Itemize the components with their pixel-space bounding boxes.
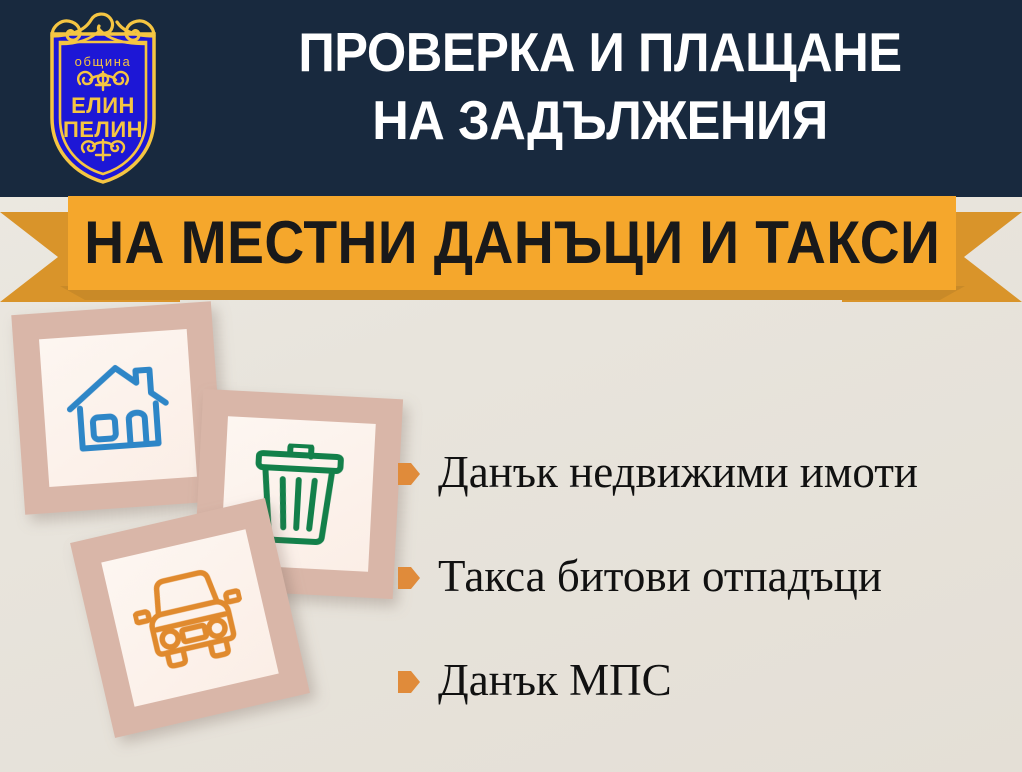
- list-item[interactable]: Данък МПС: [398, 628, 1018, 732]
- ribbon-subtitle-text: НА МЕСТНИ ДАНЪЦИ И ТАКСИ: [84, 212, 940, 274]
- list-item[interactable]: Такса битови отпадъци: [398, 524, 1018, 628]
- list-item[interactable]: Данък недвижими имоти: [398, 420, 1018, 524]
- crest-line-elin: ЕЛИН: [71, 93, 135, 118]
- stamp-card-property-tax: [11, 301, 224, 514]
- arrow-pentagon-bullet-icon: [398, 669, 420, 695]
- subtitle-ribbon: НА МЕСТНИ ДАНЪЦИ И ТАКСИ: [0, 196, 1022, 308]
- ribbon-bar: НА МЕСТНИ ДАНЪЦИ И ТАКСИ: [68, 196, 956, 290]
- stamp-collage: [0, 296, 420, 772]
- stamp-paper: [39, 329, 197, 487]
- arrow-pentagon-bullet-icon: [398, 565, 420, 591]
- crest-line-pelin: ПЕЛИН: [63, 117, 143, 142]
- house-icon: [63, 356, 173, 459]
- poster-canvas: община ЕЛИН ПЕЛИН: [0, 0, 1022, 772]
- municipality-crest-logo: община ЕЛИН ПЕЛИН: [28, 6, 178, 186]
- arrow-pentagon-bullet-icon: [398, 461, 420, 487]
- page-title: ПРОВЕРКА И ПЛАЩАНЕ НА ЗАДЪЛЖЕНИЯ: [223, 18, 977, 154]
- crest-line-obshtina: община: [75, 54, 132, 69]
- tax-types-list: Данък недвижими имоти Такса битови отпад…: [398, 420, 1018, 732]
- list-item-label: Такса битови отпадъци: [438, 551, 882, 601]
- car-front-icon: [126, 561, 254, 675]
- list-item-label: Данък МПС: [438, 655, 672, 705]
- list-item-label: Данък недвижими имоти: [438, 447, 918, 497]
- header-banner: община ЕЛИН ПЕЛИН: [0, 0, 1022, 197]
